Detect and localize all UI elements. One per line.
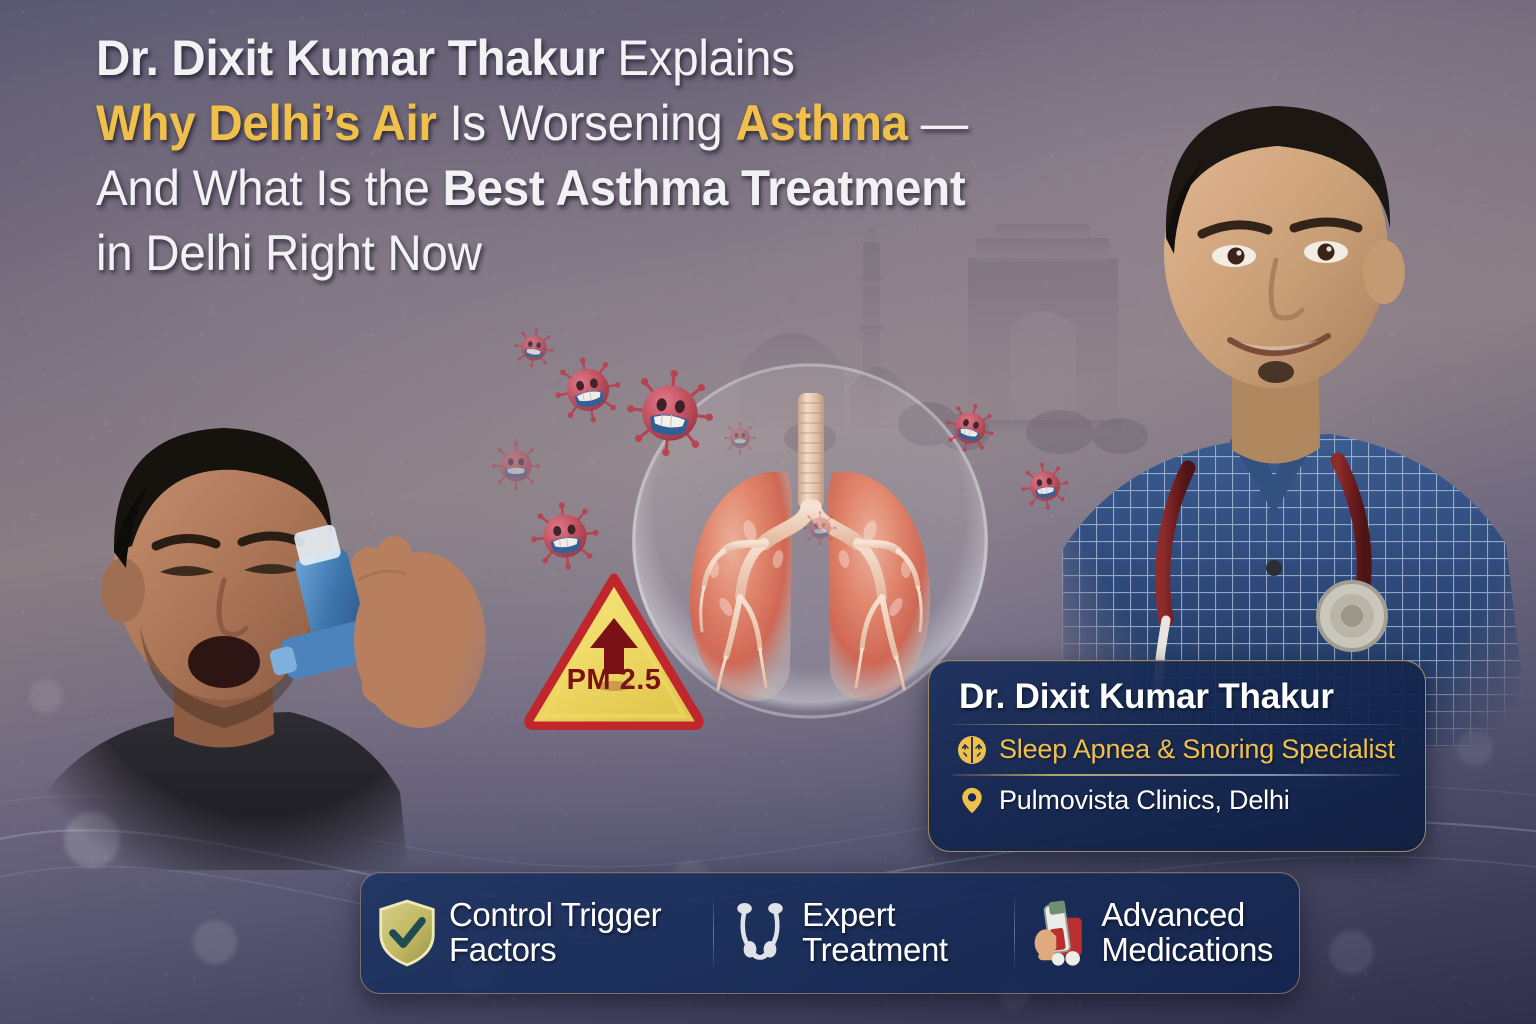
headline-worsening: Is Worsening — [437, 95, 736, 151]
doctor-portrait-photo — [1062, 48, 1536, 748]
doctor-location: Pulmovista Clinics, Delhi — [999, 785, 1290, 816]
doctor-location-row: Pulmovista Clinics, Delhi — [951, 776, 1403, 825]
inhaler-icon — [1031, 897, 1089, 969]
headline-line-1: Dr. Dixit Kumar Thakur Explains — [96, 26, 1056, 91]
headline-accent-asthma: Asthma — [735, 95, 907, 151]
feature-item-expert-treatment: Expert Treatment — [714, 873, 1014, 993]
doctor-specialty: Sleep Apnea & Snoring Specialist — [999, 734, 1395, 765]
headline-doctor-name: Dr. Dixit Kumar Thakur — [96, 30, 604, 86]
patient-using-inhaler-photo — [28, 340, 498, 870]
headline-line-3: And What Is the Best Asthma Treatment — [96, 156, 1056, 221]
feature-label-1-line2: Factors — [449, 931, 556, 968]
headline-dash: — — [908, 95, 968, 151]
headline-in-delhi-now: in Delhi Right Now — [96, 225, 482, 281]
headline-line-4: in Delhi Right Now — [96, 221, 1056, 286]
doctor-specialty-row: Sleep Apnea & Snoring Specialist — [951, 725, 1403, 774]
stethoscope-icon — [730, 898, 790, 968]
doctor-name: Dr. Dixit Kumar Thakur — [951, 675, 1403, 724]
headline: Dr. Dixit Kumar Thakur Explains Why Delh… — [96, 26, 1056, 286]
feature-item-advanced-medications: Advanced Medications — [1015, 873, 1299, 993]
headline-explains: Explains — [604, 30, 794, 86]
shield-check-icon — [377, 898, 437, 968]
headline-best-treatment: Best Asthma Treatment — [443, 160, 966, 216]
feature-label-3-line2: Medications — [1101, 931, 1273, 968]
feature-bar: Control Trigger Factors — [360, 872, 1300, 994]
feature-label-1-line1: Control Trigger — [449, 896, 661, 933]
doctor-info-card: Dr. Dixit Kumar Thakur Sleep Apnea & Sno… — [928, 660, 1426, 852]
feature-label-2-line2: Treatment — [802, 931, 948, 968]
feature-label-3-line1: Advanced — [1101, 896, 1245, 933]
feature-item-control-trigger-factors: Control Trigger Factors — [361, 873, 713, 993]
lungs-icon — [957, 735, 987, 765]
feature-label-3: Advanced Medications — [1101, 898, 1273, 968]
headline-accent-delhi-air: Why Delhi’s Air — [96, 95, 437, 151]
pm25-warning-badge: PM 2.5 — [524, 570, 704, 730]
feature-label-2: Expert Treatment — [802, 898, 948, 968]
feature-label-2-line1: Expert — [802, 896, 895, 933]
pm25-label: PM 2.5 — [524, 664, 704, 697]
feature-label-1: Control Trigger Factors — [449, 898, 661, 968]
headline-line-2: Why Delhi’s Air Is Worsening Asthma — — [96, 91, 1056, 156]
asthma-awareness-banner: Dr. Dixit Kumar Thakur Explains Why Delh… — [0, 0, 1536, 1024]
headline-and-what-is: And What Is the — [96, 160, 443, 216]
map-pin-icon — [957, 785, 987, 815]
warning-triangle-icon — [524, 570, 704, 730]
